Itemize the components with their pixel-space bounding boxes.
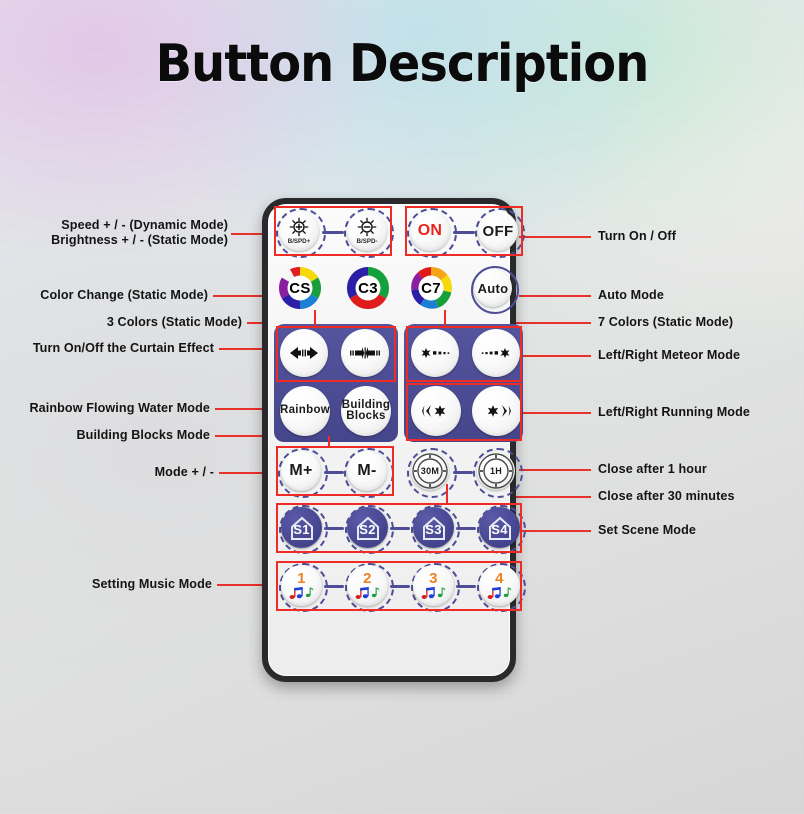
label-building-blocks: Building Blocks Mode — [8, 428, 210, 443]
key-label-auto: Auto — [478, 281, 509, 296]
label-speed-line1: Speed + / - (Dynamic Mode) — [14, 218, 228, 233]
key-c7[interactable]: C7 — [409, 266, 453, 310]
leader-line-scene — [521, 530, 591, 532]
label-meteor-mode: Left/Right Meteor Mode — [598, 348, 740, 363]
label-curtain-effect: Turn On/Off the Curtain Effect — [8, 341, 214, 356]
leader-line-1h — [519, 469, 591, 471]
leader-line-auto — [519, 295, 591, 297]
key-cs[interactable]: CS — [278, 266, 322, 310]
remote-control-body: B/SPD+ B/SPD- ON OFF — [262, 198, 516, 682]
label-three-colors: 3 Colors (Static Mode) — [14, 315, 242, 330]
key-label-timer-30m: 30M — [421, 466, 439, 476]
leader-line-power — [519, 236, 591, 238]
page-title: Button Description — [32, 34, 772, 94]
highlight-box-curtain — [276, 326, 396, 382]
key-auto[interactable]: Auto — [474, 269, 512, 307]
key-label-building-blocks: BuildingBlocks — [342, 400, 390, 423]
label-running-mode: Left/Right Running Mode — [598, 405, 750, 420]
highlight-box-mode — [276, 446, 394, 496]
leader-stub-c3 — [314, 310, 316, 326]
key-rainbow[interactable]: Rainbow — [280, 386, 330, 436]
key-c3[interactable]: C3 — [346, 266, 390, 310]
label-close-1-hour: Close after 1 hour — [598, 462, 707, 477]
highlight-box-music — [276, 561, 522, 611]
leader-line-running — [521, 412, 591, 414]
highlight-box-power — [405, 206, 523, 256]
highlight-box-running — [406, 383, 522, 441]
key-timer-1h[interactable]: 1H — [477, 452, 515, 490]
leader-stub-30m — [446, 484, 448, 503]
leader-stub-blocks — [328, 436, 330, 447]
label-set-scene: Set Scene Mode — [598, 523, 696, 538]
label-close-30-min: Close after 30 minutes — [598, 489, 735, 504]
key-timer-30m[interactable]: 30M — [411, 452, 449, 490]
leader-stub-c7 — [444, 310, 446, 326]
key-label-rainbow: Rainbow — [280, 405, 330, 417]
label-color-change: Color Change (Static Mode) — [14, 288, 208, 303]
highlight-box-bspd — [274, 206, 392, 256]
label-rainbow-flowing: Rainbow Flowing Water Mode — [8, 401, 210, 416]
key-label-c7: C7 — [421, 280, 441, 297]
key-label-c3: C3 — [358, 280, 378, 297]
highlight-box-scene — [276, 503, 522, 553]
key-building-blocks[interactable]: BuildingBlocks — [341, 386, 391, 436]
key-label-cs: CS — [289, 280, 310, 297]
label-auto-mode: Auto Mode — [598, 288, 664, 303]
key-label-timer-1h: 1H — [490, 466, 502, 476]
label-setting-music: Setting Music Mode — [8, 577, 212, 592]
label-seven-colors: 7 Colors (Static Mode) — [598, 315, 733, 330]
label-turn-on-off: Turn On / Off — [598, 229, 676, 244]
label-speed-brightness: Speed + / - (Dynamic Mode) Brightness + … — [14, 218, 228, 248]
label-speed-line2: Brightness + / - (Static Mode) — [14, 233, 228, 248]
highlight-box-meteor — [406, 326, 522, 382]
leader-line-meteor — [521, 355, 591, 357]
label-mode-plus-minus: Mode + / - — [8, 465, 214, 480]
